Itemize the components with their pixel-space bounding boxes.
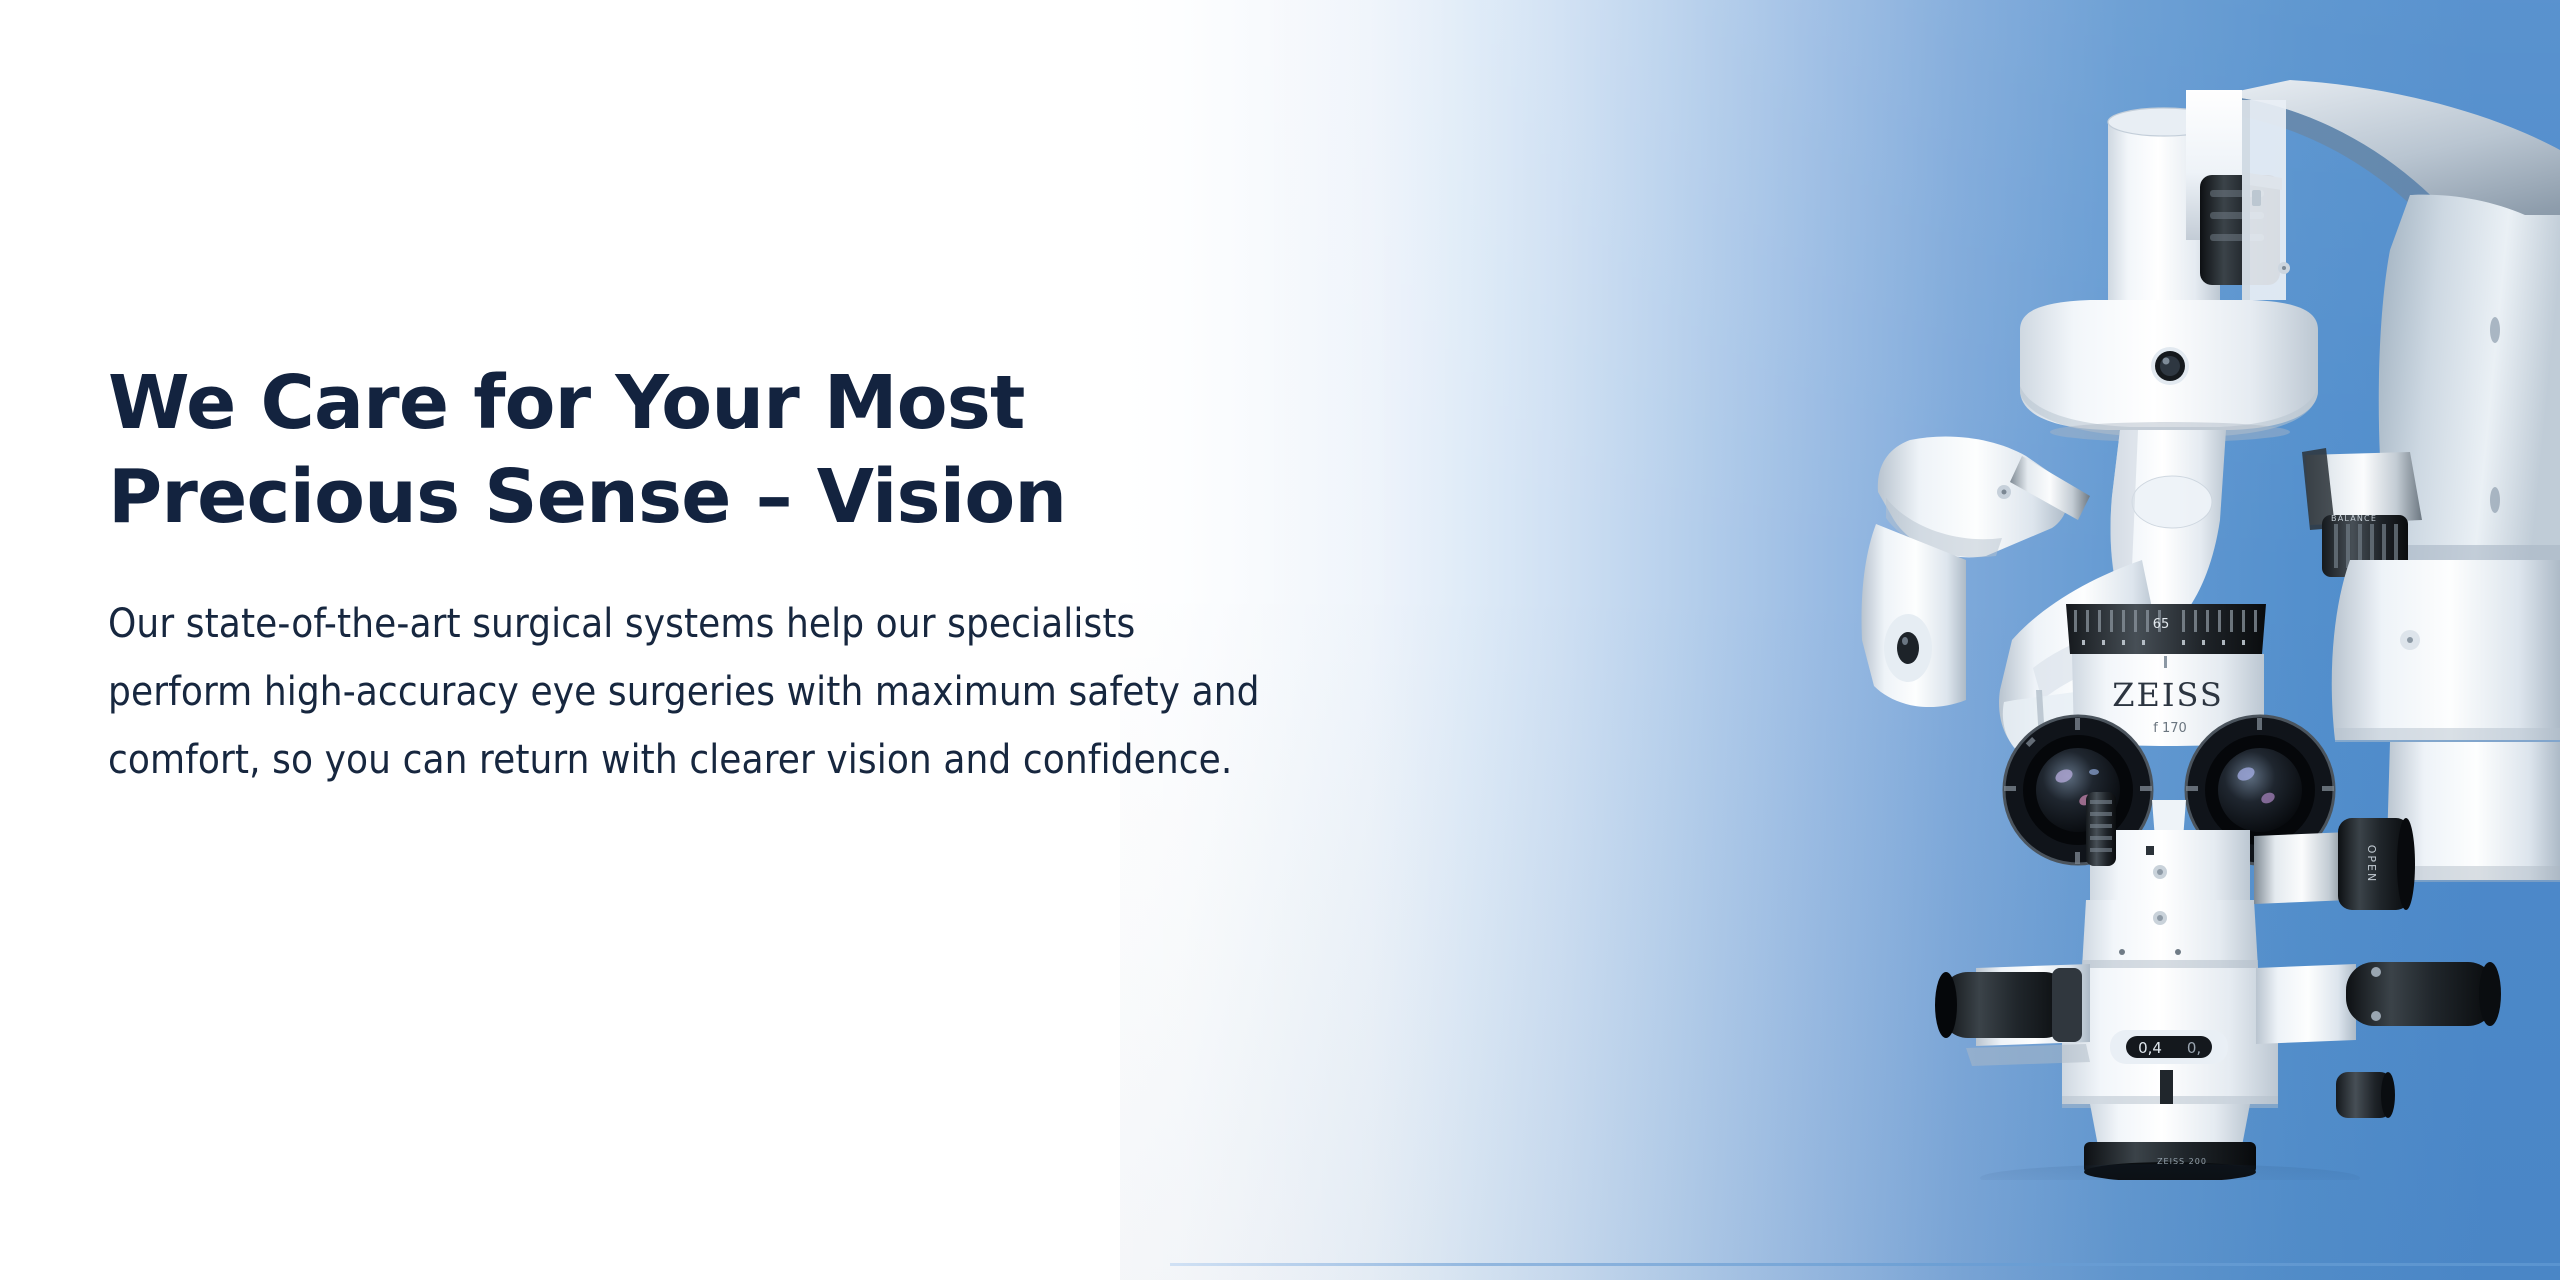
bottom-accent-rule [1170,1263,2560,1266]
magnification-value: 65 [2153,617,2170,632]
left-knurled-collar [2086,792,2116,866]
left-side-tube [1935,964,2090,1066]
headline-line-1: We Care for Your Most [108,356,1168,450]
balance-joint-group: BALANCE [2302,448,2422,577]
hero-subcopy: Our state-of-the-art surgical systems he… [108,590,1168,794]
subcopy-line-3: comfort, so you can return with clearer … [108,726,1168,794]
page-title: We Care for Your Most Precious Sense – V… [108,356,1168,544]
optics-carrier-disc [2020,300,2318,442]
focal-length-label: f 170 [2153,721,2187,736]
lower-right-panel [2332,560,2560,742]
objective-value: 0,4 [2138,1039,2162,1057]
subcopy-line-2: perform high-accuracy eye surgeries with… [108,658,1168,726]
magnification-dial: 65 [2066,604,2266,654]
hero-copy: We Care for Your Most Precious Sense – V… [108,356,1168,794]
surgical-microscope-image: BALANCE [1790,0,2560,1180]
hero-banner: BALANCE [0,0,2560,1280]
vertical-post-group [2108,90,2290,330]
headline-line-2: Precious Sense – Vision [108,450,1168,544]
right-small-knob [2336,1072,2395,1118]
right-side-tube [2256,962,2501,1044]
svg-text:BALANCE: BALANCE [2331,514,2377,523]
zeiss-brand-label: ZEISS [2112,676,2224,714]
subcopy-line-1: Our state-of-the-art surgical systems he… [108,590,1168,658]
optics-body: 0,4 0, [2062,830,2278,1112]
svg-text:0,: 0, [2187,1039,2201,1057]
open-ring-label: OPEN [2365,845,2378,883]
